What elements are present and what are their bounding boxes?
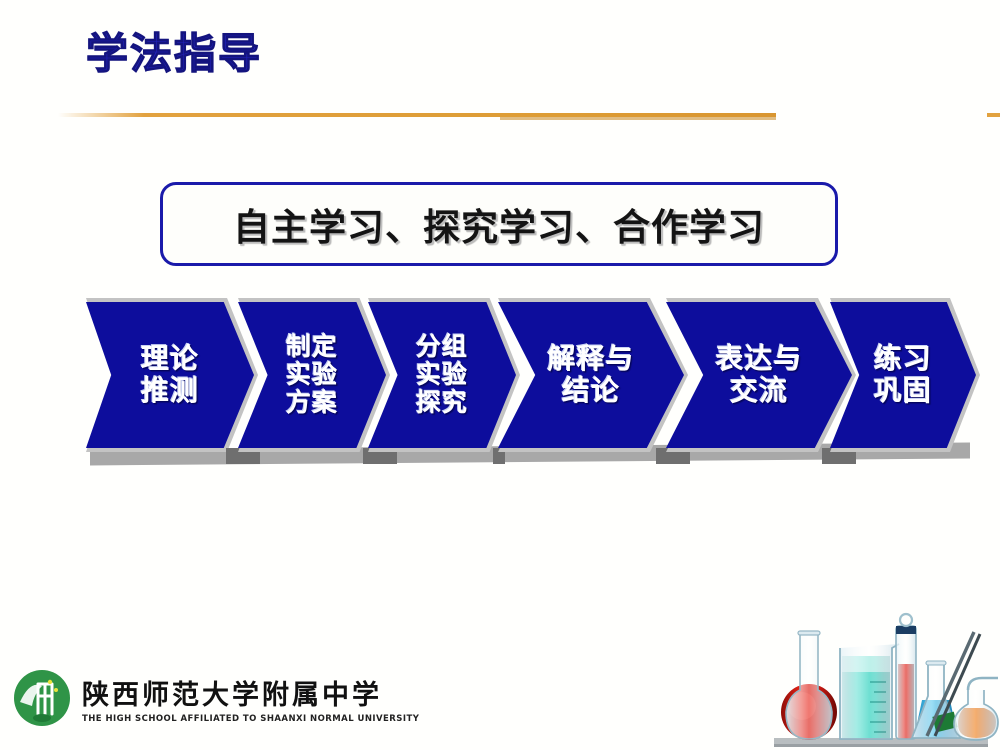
gold-divider-shadow [500, 117, 776, 120]
school-logo-block: 陕西师范大学附属中学 THE HIGH SCHOOL AFFILIATED TO… [12, 668, 419, 728]
process-step-2-line-2: 实验 [286, 361, 338, 389]
gold-divider-dash [987, 113, 1000, 117]
process-step-5-line-1: 表达与 [715, 343, 802, 375]
process-step-3-line-1: 分组 [416, 333, 468, 361]
process-step-6-line-1: 练习 [874, 343, 932, 375]
graduated-tube-red [896, 614, 916, 739]
page-title: 学法指导 [86, 20, 262, 81]
process-step-1[interactable]: 理论 推测 [86, 298, 258, 452]
process-step-4[interactable]: 解释与 结论 [498, 298, 688, 452]
slide-canvas: 学法指导 自主学习、探究学习、合作学习 理论 推测 制定 实验 方案 [0, 0, 1000, 750]
process-chevron-band: 理论 推测 制定 实验 方案 分组 实验 探究 [86, 298, 976, 470]
process-step-4-body: 解释与 结论 [498, 302, 684, 448]
process-step-3-body: 分组 实验 探究 [368, 302, 516, 448]
process-step-6[interactable]: 练习 巩固 [830, 298, 980, 452]
lab-glassware-illustration [762, 604, 1000, 750]
process-step-2-body: 制定 实验 方案 [238, 302, 386, 448]
process-step-1-line-1: 理论 [141, 343, 199, 375]
glassware-svg [762, 604, 1000, 750]
process-step-6-body: 练习 巩固 [830, 302, 976, 448]
process-step-5-body: 表达与 交流 [666, 302, 852, 448]
process-step-5[interactable]: 表达与 交流 [666, 298, 856, 452]
school-emblem-icon [12, 668, 72, 728]
process-step-5-line-2: 交流 [730, 375, 788, 407]
school-name-cn: 陕西师范大学附属中学 [82, 673, 419, 712]
school-name-en: THE HIGH SCHOOL AFFILIATED TO SHAANXI NO… [82, 714, 419, 724]
distilling-flask-orange [954, 678, 998, 740]
statement-box: 自主学习、探究学习、合作学习 [160, 182, 838, 266]
round-bottom-flask-red [781, 631, 837, 740]
process-step-2-line-3: 方案 [286, 389, 338, 417]
process-step-6-line-2: 巩固 [874, 375, 932, 407]
process-step-3-line-2: 实验 [416, 361, 468, 389]
beaker-teal [840, 644, 899, 739]
process-step-1-line-2: 推测 [141, 375, 199, 407]
process-step-2-line-1: 制定 [286, 333, 338, 361]
process-step-3-line-3: 探究 [416, 389, 468, 417]
process-step-1-body: 理论 推测 [86, 302, 254, 448]
process-step-4-line-2: 结论 [562, 375, 620, 407]
statement-text: 自主学习、探究学习、合作学习 [233, 197, 765, 251]
process-step-4-line-1: 解释与 [547, 343, 634, 375]
